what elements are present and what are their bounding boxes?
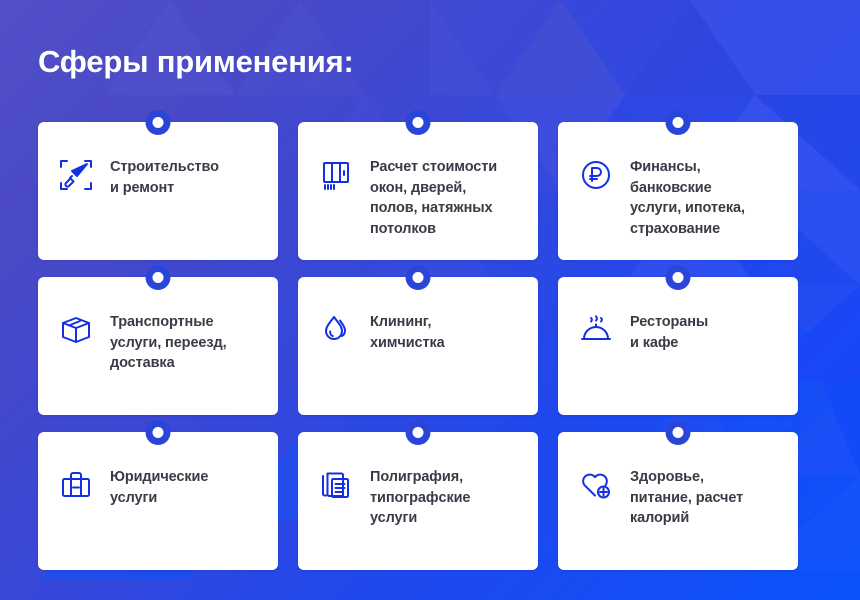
card-label: Строительство и ремонт	[110, 156, 219, 198]
sphere-card-cleaning[interactable]: Клининг, химчистка	[298, 277, 538, 415]
card-label: Клининг, химчистка	[370, 311, 445, 353]
briefcase-icon	[58, 467, 94, 503]
sphere-card-grid: Строительство и ремонт Расчет стоимости …	[38, 122, 822, 570]
card-badge-dot	[673, 272, 684, 283]
sphere-card-legal[interactable]: Юридические услуги	[38, 432, 278, 570]
card-badge-dot	[673, 427, 684, 438]
card-badge-dot	[673, 117, 684, 128]
card-badge	[146, 265, 171, 290]
card-badge	[666, 265, 691, 290]
package-box-icon	[58, 312, 94, 348]
card-label: Юридические услуги	[110, 466, 208, 508]
sphere-card-health[interactable]: Здоровье, питание, расчет калорий	[558, 432, 798, 570]
sphere-card-finance[interactable]: Финансы, банковские услуги, ипотека, стр…	[558, 122, 798, 260]
card-badge-dot	[153, 117, 164, 128]
card-label: Финансы, банковские услуги, ипотека, стр…	[630, 156, 745, 239]
card-badge-dot	[153, 272, 164, 283]
card-badge	[666, 420, 691, 445]
sphere-card-restaurants[interactable]: Рестораны и кафе	[558, 277, 798, 415]
sphere-card-transport[interactable]: Транспортные услуги, переезд, доставка	[38, 277, 278, 415]
trowel-construction-icon	[58, 157, 94, 193]
application-sphere-showcase: Сферы применения: Строительство и ремонт	[0, 0, 860, 600]
card-badge	[666, 110, 691, 135]
sphere-card-windows-doors[interactable]: Расчет стоимости окон, дверей, полов, на…	[298, 122, 538, 260]
heart-plus-icon	[578, 467, 614, 503]
card-badge	[406, 420, 431, 445]
card-label: Рестораны и кафе	[630, 311, 708, 353]
water-drops-icon	[318, 312, 354, 348]
card-label: Полиграфия, типографские услуги	[370, 466, 470, 529]
card-badge	[146, 110, 171, 135]
card-badge	[406, 110, 431, 135]
card-badge	[146, 420, 171, 445]
page-title: Сферы применения:	[38, 44, 354, 80]
card-badge-dot	[413, 272, 424, 283]
ruble-circle-icon	[578, 157, 614, 193]
card-badge-dot	[413, 117, 424, 128]
documents-stack-icon	[318, 467, 354, 503]
card-badge	[406, 265, 431, 290]
card-label: Транспортные услуги, переезд, доставка	[110, 311, 227, 374]
card-label: Расчет стоимости окон, дверей, полов, на…	[370, 156, 497, 239]
sphere-card-printing[interactable]: Полиграфия, типографские услуги	[298, 432, 538, 570]
food-cloche-icon	[578, 312, 614, 348]
sphere-card-construction[interactable]: Строительство и ремонт	[38, 122, 278, 260]
window-door-icon	[318, 157, 354, 193]
card-badge-dot	[153, 427, 164, 438]
card-label: Здоровье, питание, расчет калорий	[630, 466, 743, 529]
card-badge-dot	[413, 427, 424, 438]
